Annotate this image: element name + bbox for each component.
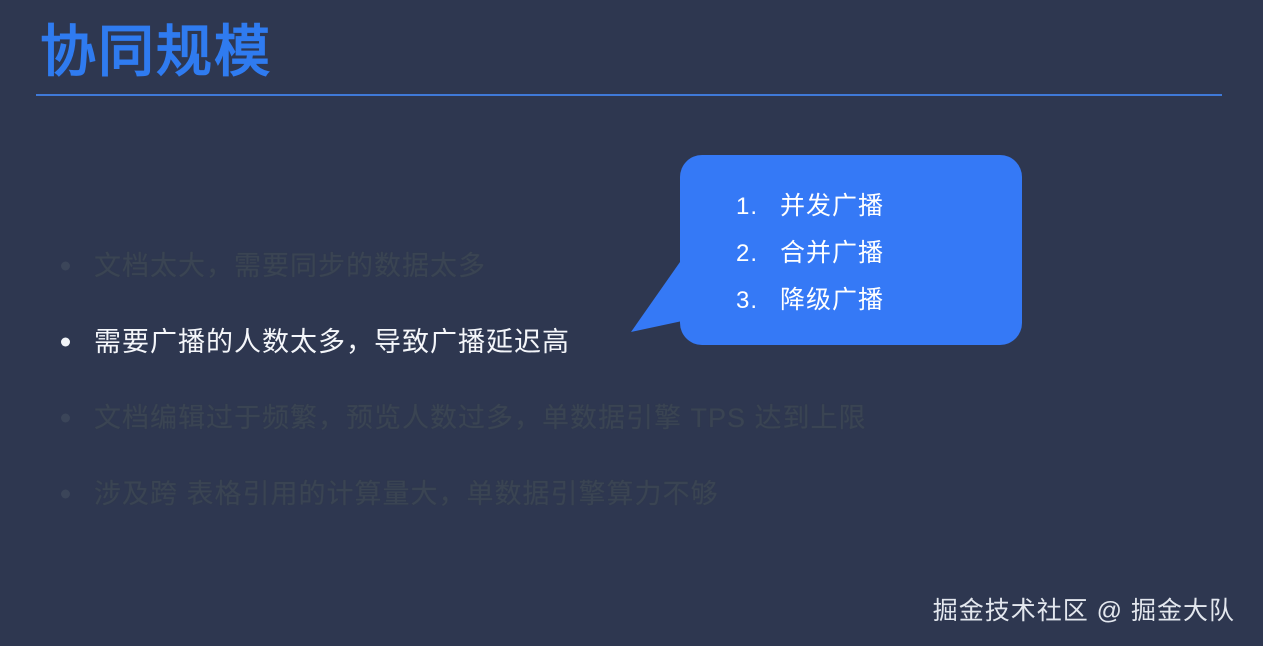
list-item: 涉及跨 表格引用的计算量大，单数据引擎算力不够 xyxy=(46,456,1046,532)
list-item: 文档编辑过于频繁，预览人数过多，单数据引擎 TPS 达到上限 xyxy=(46,380,1046,456)
callout-bubble: 1. 并发广播 2. 合并广播 3. 降级广播 xyxy=(680,155,1022,345)
bullet-dot-icon xyxy=(61,338,70,347)
bullet-text: 需要广播的人数太多，导致广播延迟高 xyxy=(94,322,570,362)
callout-item-number: 1. xyxy=(736,183,780,230)
footer-attribution: 掘金技术社区 @ 掘金大队 xyxy=(933,596,1235,626)
callout-item-number: 2. xyxy=(736,230,780,277)
callout-list: 1. 并发广播 2. 合并广播 3. 降级广播 xyxy=(680,183,1022,324)
bullet-text: 文档编辑过于频繁，预览人数过多，单数据引擎 TPS 达到上限 xyxy=(94,398,867,438)
bullet-dot-icon xyxy=(61,490,70,499)
callout-list-item: 3. 降级广播 xyxy=(680,277,1022,324)
callout-item-label: 合并广播 xyxy=(780,230,884,277)
title-divider xyxy=(36,94,1222,96)
bullet-text: 文档太大，需要同步的数据太多 xyxy=(94,246,486,286)
bullet-dot-icon xyxy=(61,414,70,423)
page-title: 协同规模 xyxy=(40,14,272,90)
slide-canvas: 协同规模 文档太大，需要同步的数据太多 需要广播的人数太多，导致广播延迟高 文档… xyxy=(0,0,1263,646)
callout-item-label: 并发广播 xyxy=(780,183,884,230)
bullet-text: 涉及跨 表格引用的计算量大，单数据引擎算力不够 xyxy=(94,474,719,514)
callout-item-label: 降级广播 xyxy=(780,277,884,324)
callout-list-item: 1. 并发广播 xyxy=(680,183,1022,230)
callout-list-item: 2. 合并广播 xyxy=(680,230,1022,277)
bullet-dot-icon xyxy=(61,262,70,271)
callout-pointer-icon xyxy=(631,252,687,334)
callout-item-number: 3. xyxy=(736,277,780,324)
